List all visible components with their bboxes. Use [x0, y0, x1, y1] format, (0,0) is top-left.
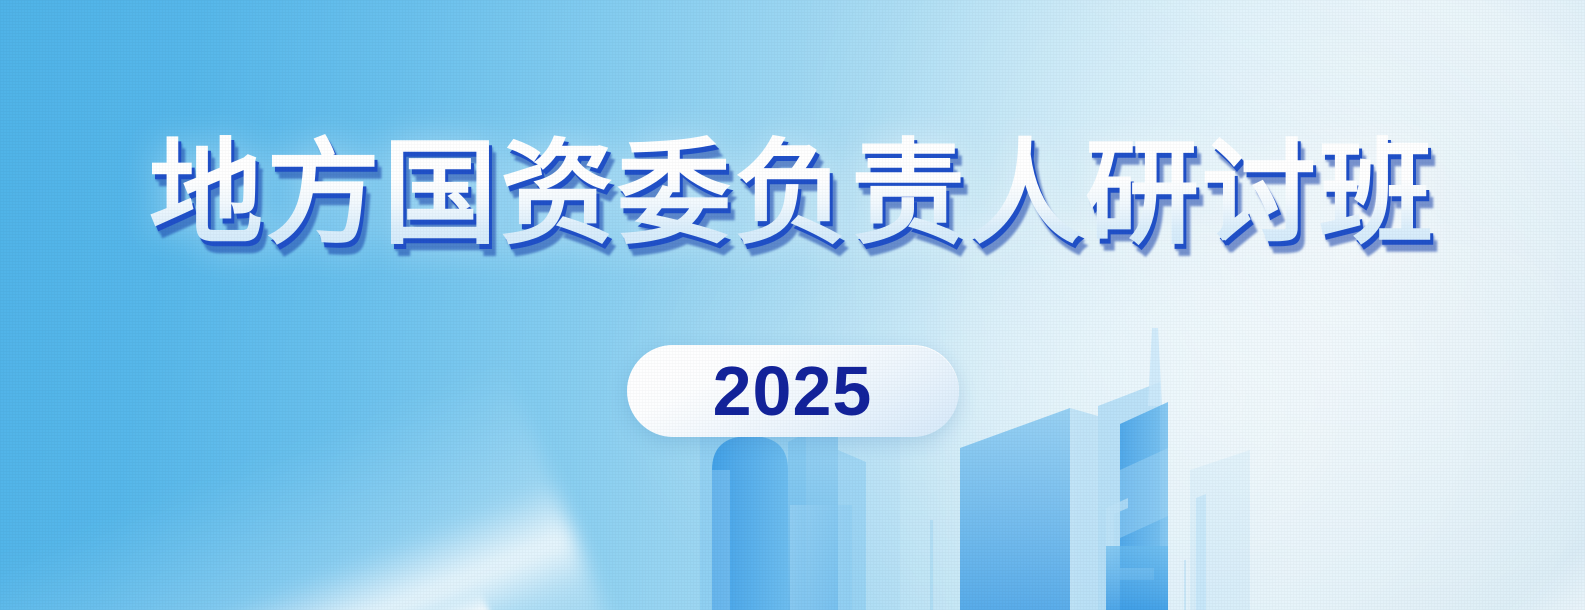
banner-title-container: 地方国资委负责人研讨班 — [0, 132, 1585, 255]
year-badge-container: 2025 — [0, 345, 1585, 437]
banner-root: 地方国资委负责人研讨班 2025 — [0, 0, 1585, 610]
year-badge: 2025 — [627, 345, 959, 437]
diagonal-light-streak — [1244, 432, 1585, 610]
ambient-glow — [805, 0, 1585, 610]
banner-title: 地方国资委负责人研讨班 — [149, 132, 1436, 255]
diagonal-light-streak — [0, 590, 497, 610]
year-badge-label: 2025 — [713, 352, 873, 430]
diagonal-light-streak — [0, 589, 375, 610]
texture-overlay — [0, 0, 1585, 610]
